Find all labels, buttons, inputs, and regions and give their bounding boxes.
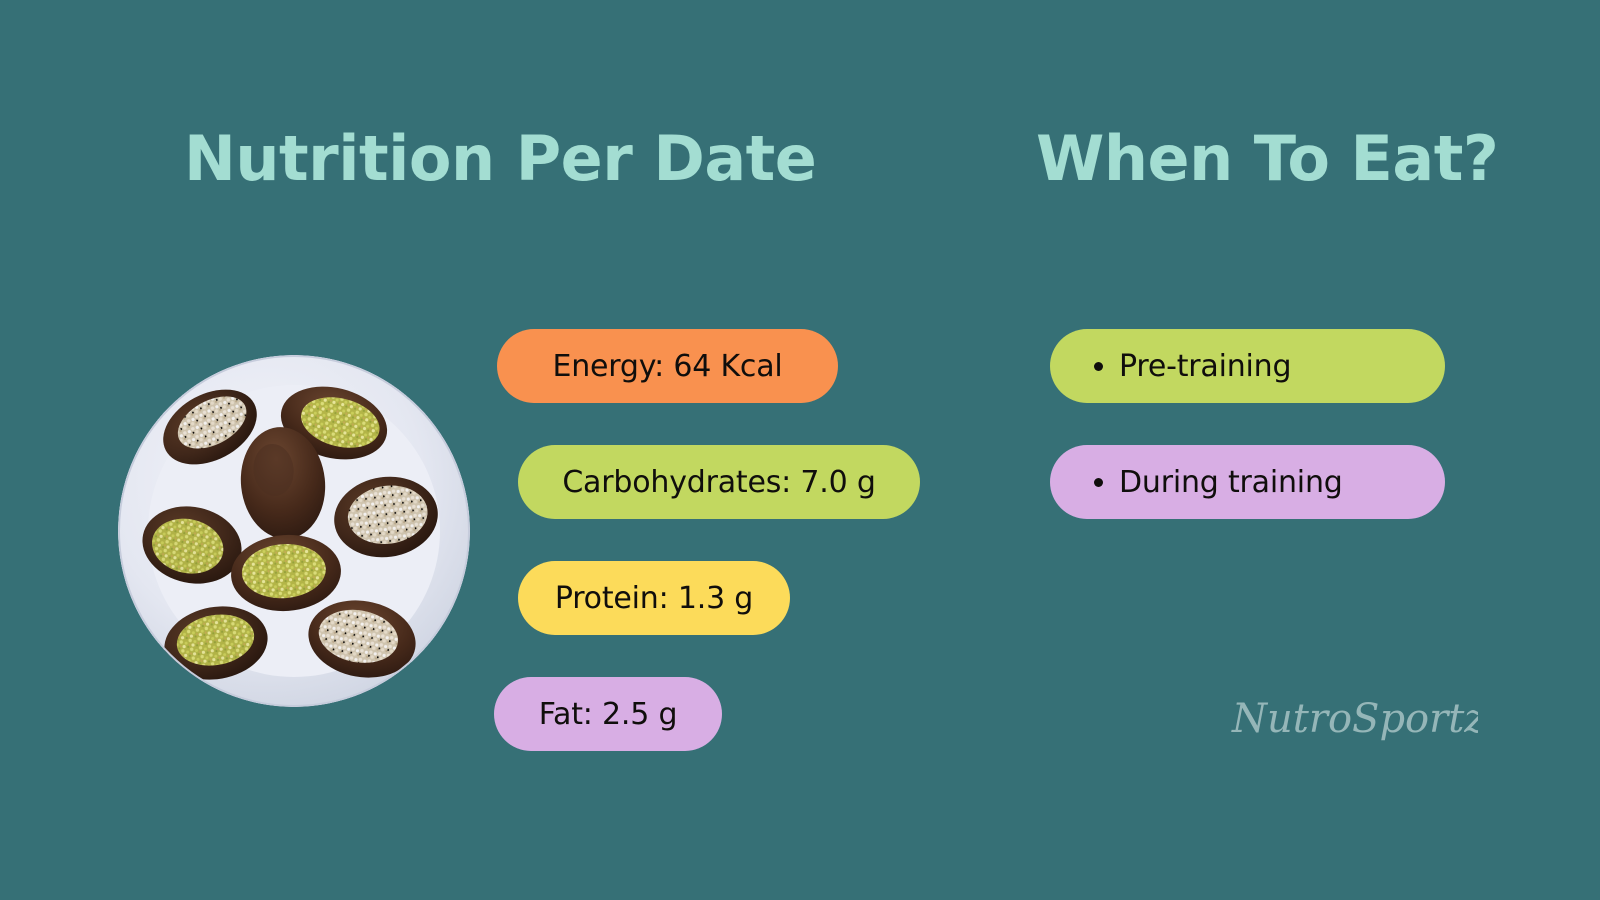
when-to-eat-pill-pre-training[interactable]: Pre-training [1050,329,1445,403]
when-to-eat-pill-during-training[interactable]: During training [1050,445,1445,519]
svg-text:NutroSportz: NutroSportz [1231,696,1478,742]
page-title-when-to-eat: When To Eat? [1036,128,1498,190]
chocolate-dates-photo [118,355,470,707]
nutrition-pill-carbohydrates[interactable]: Carbohydrates: 7.0 g [518,445,920,519]
nutrition-pill-fat-label: Fat: 2.5 g [539,697,678,732]
nutrition-pill-energy[interactable]: Energy: 64 Kcal [497,329,838,403]
when-to-eat-pill-during-training-label: During training [1119,465,1343,500]
bullet-icon [1094,362,1103,371]
nutrition-pill-protein-label: Protein: 1.3 g [555,581,753,616]
page-title-nutrition: Nutrition Per Date [184,128,816,190]
nutrition-pill-fat[interactable]: Fat: 2.5 g [494,677,722,751]
nutrition-pill-energy-label: Energy: 64 Kcal [552,349,782,384]
infographic-canvas: Nutrition Per Date When To Eat? [0,0,1600,900]
nutrition-pill-protein[interactable]: Protein: 1.3 g [518,561,790,635]
nutrition-pill-carbohydrates-label: Carbohydrates: 7.0 g [562,465,875,500]
when-to-eat-pill-pre-training-label: Pre-training [1119,349,1291,384]
brand-watermark: NutroSportz [1228,688,1478,750]
bullet-icon [1094,478,1103,487]
